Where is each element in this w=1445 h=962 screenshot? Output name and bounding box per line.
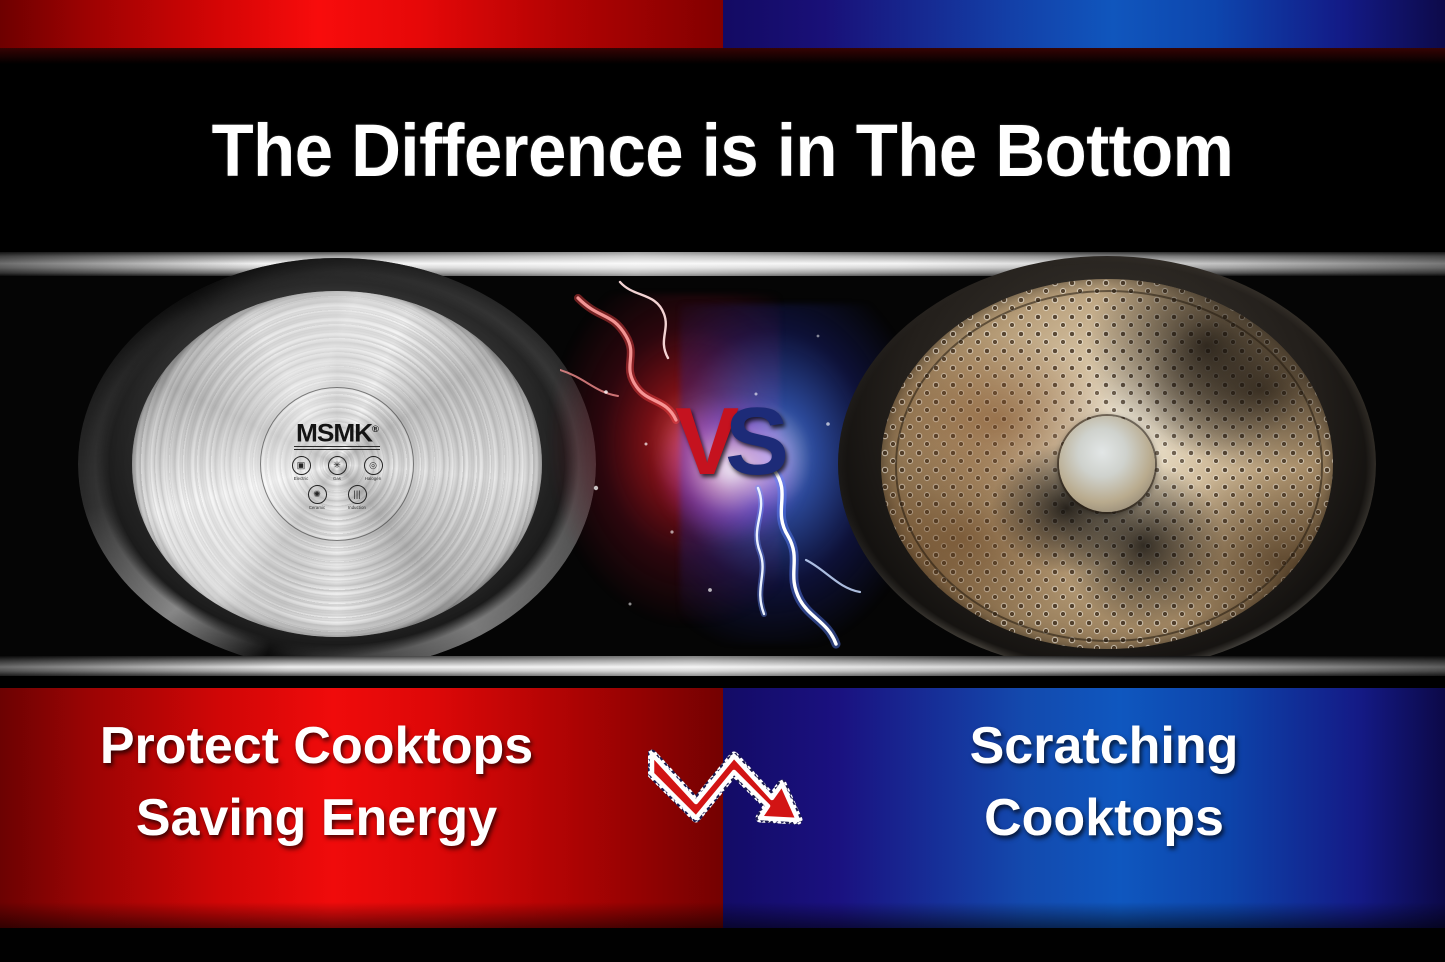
electric-cooktop-icon: ▣ Electric [287, 456, 315, 482]
left-caption-line1: Protect Cooktops [0, 710, 633, 782]
top-color-bar [0, 0, 1445, 48]
top-bar-shadow [0, 48, 1445, 64]
electric-cooktop-caption: Electric [294, 476, 309, 482]
right-caption-panel: Scratching Cooktops [723, 688, 1445, 928]
left-caption-panel: Protect Cooktops Saving Energy [0, 688, 723, 928]
msmk-pan-bottom-photo: MSMK® ▣ Electric ✳ Gas ◎ Halogen [78, 258, 596, 670]
ceramic-cooktop-caption: Ceramic [309, 505, 325, 511]
dimpled-burnt-plate [881, 279, 1333, 649]
gas-cooktop-icon: ✳ Gas [323, 456, 351, 482]
left-caption-line2: Saving Energy [0, 782, 633, 854]
gas-cooktop-caption: Gas [333, 476, 341, 482]
bottom-black-strip [0, 928, 1445, 962]
ceramic-cooktop-glyph: ✺ [308, 485, 327, 504]
registered-mark: ® [372, 424, 378, 434]
ceramic-cooktop-icon: ✺ Ceramic [303, 485, 331, 511]
halogen-cooktop-caption: Halogen [365, 476, 381, 482]
brand-wordmark: MSMK® [296, 417, 378, 445]
electric-cooktop-glyph: ▣ [292, 456, 311, 475]
chrome-bottom-bar [0, 656, 1445, 676]
halogen-cooktop-icon: ◎ Halogen [359, 456, 387, 482]
induction-cooktop-icon: ||| Induction [343, 485, 371, 511]
vs-letter-s: S [725, 388, 775, 495]
comparison-photo-panel: MSMK® ▣ Electric ✳ Gas ◎ Halogen [0, 252, 1445, 676]
right-caption-text: Scratching Cooktops [723, 710, 1445, 854]
right-caption-line2: Cooktops [763, 782, 1445, 854]
left-caption-text: Protect Cooktops Saving Energy [0, 710, 723, 854]
top-bar-red-half [0, 0, 723, 48]
plate-center-disc [1059, 416, 1155, 512]
halogen-cooktop-glyph: ◎ [364, 456, 383, 475]
vs-letter-v: V [675, 388, 725, 495]
cooktop-icon-row-bottom: ✺ Ceramic ||| Induction [303, 485, 371, 511]
cooktop-icon-row-top: ▣ Electric ✳ Gas ◎ Halogen [287, 456, 387, 482]
brand-name: MSMK [296, 419, 372, 447]
msmk-logo-medallion: MSMK® ▣ Electric ✳ Gas ◎ Halogen [260, 387, 414, 541]
zigzag-down-arrow [648, 736, 818, 832]
gas-cooktop-glyph: ✳ [328, 456, 347, 475]
top-bar-blue-half [723, 0, 1445, 48]
ordinary-pan-bottom-photo [838, 256, 1376, 672]
induction-cooktop-caption: Induction [348, 505, 366, 511]
page-title: The Difference is in The Bottom [51, 108, 1395, 194]
arrow-shape [652, 754, 798, 820]
product-comparison-image: The Difference is in The Bottom MSMK® ▣ … [0, 0, 1445, 962]
right-caption-line1: Scratching [763, 710, 1445, 782]
induction-cooktop-glyph: ||| [348, 485, 367, 504]
